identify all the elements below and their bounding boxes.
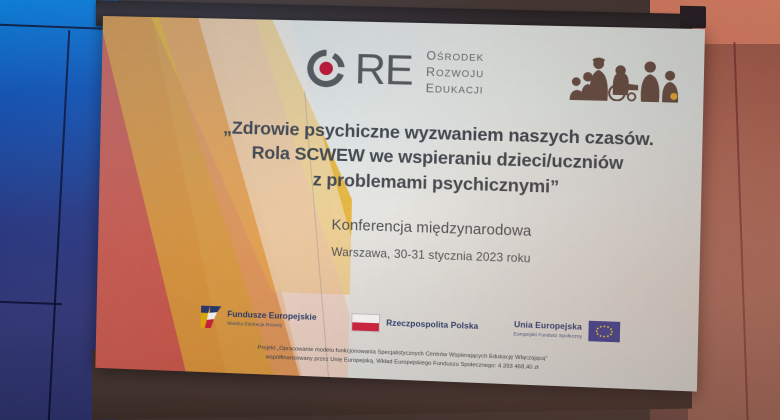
- ore-subtitle-line-2: Rozwoju: [426, 65, 484, 81]
- slide-title: „Zdrowie psychiczne wyzwaniem naszych cz…: [99, 112, 702, 203]
- ore-logo-letters: RE: [354, 48, 413, 92]
- eu-flag-icon: [588, 321, 620, 343]
- funding-logo-strip: Fundusze Europejskie Wiedza Edukacja Roz…: [96, 302, 698, 346]
- logo-fundusze-europejskie: Fundusze Europejskie Wiedza Edukacja Roz…: [201, 306, 317, 332]
- logo-text-polska: Rzeczpospolita Polska: [386, 319, 478, 332]
- logo-text-unia: Unia Europejska Europejski Fundusz Społe…: [513, 320, 582, 338]
- ore-logo-subtitle: Ośrodek Rozwoju Edukacji: [426, 45, 485, 97]
- ore-subtitle-line-3: Edukacji: [426, 81, 484, 97]
- logo-unia-europejska: Unia Europejska Europejski Fundusz Społe…: [513, 318, 620, 342]
- ore-logo: RE Ośrodek Rozwoju Edukacji: [303, 43, 485, 98]
- logo-text-fundusze: Fundusze Europejskie Wiedza Edukacja Roz…: [227, 310, 317, 329]
- logo-main-label: Rzeczpospolita Polska: [386, 319, 478, 332]
- wall-seam: [0, 301, 62, 305]
- ore-circle-mark-icon: [303, 45, 349, 91]
- slide-subtitle: Konferencja międzynarodowa Warszawa, 30-…: [98, 208, 701, 275]
- projection-screen: RE Ośrodek Rozwoju Edukacji: [95, 16, 705, 392]
- ore-subtitle-line-1: Ośrodek: [426, 48, 484, 64]
- wall-seam: [48, 30, 71, 420]
- logo-rzeczpospolita-polska: Rzeczpospolita Polska: [351, 313, 478, 336]
- fe-flag-mark-icon: [201, 306, 222, 329]
- polish-flag-icon: [351, 313, 380, 332]
- projector-screen-housing-end-cap: [680, 6, 706, 29]
- people-silhouettes-icon: [566, 43, 681, 103]
- conference-room-scene: RE Ośrodek Rozwoju Edukacji: [0, 0, 780, 420]
- presentation-slide: RE Ośrodek Rozwoju Edukacji: [95, 16, 705, 392]
